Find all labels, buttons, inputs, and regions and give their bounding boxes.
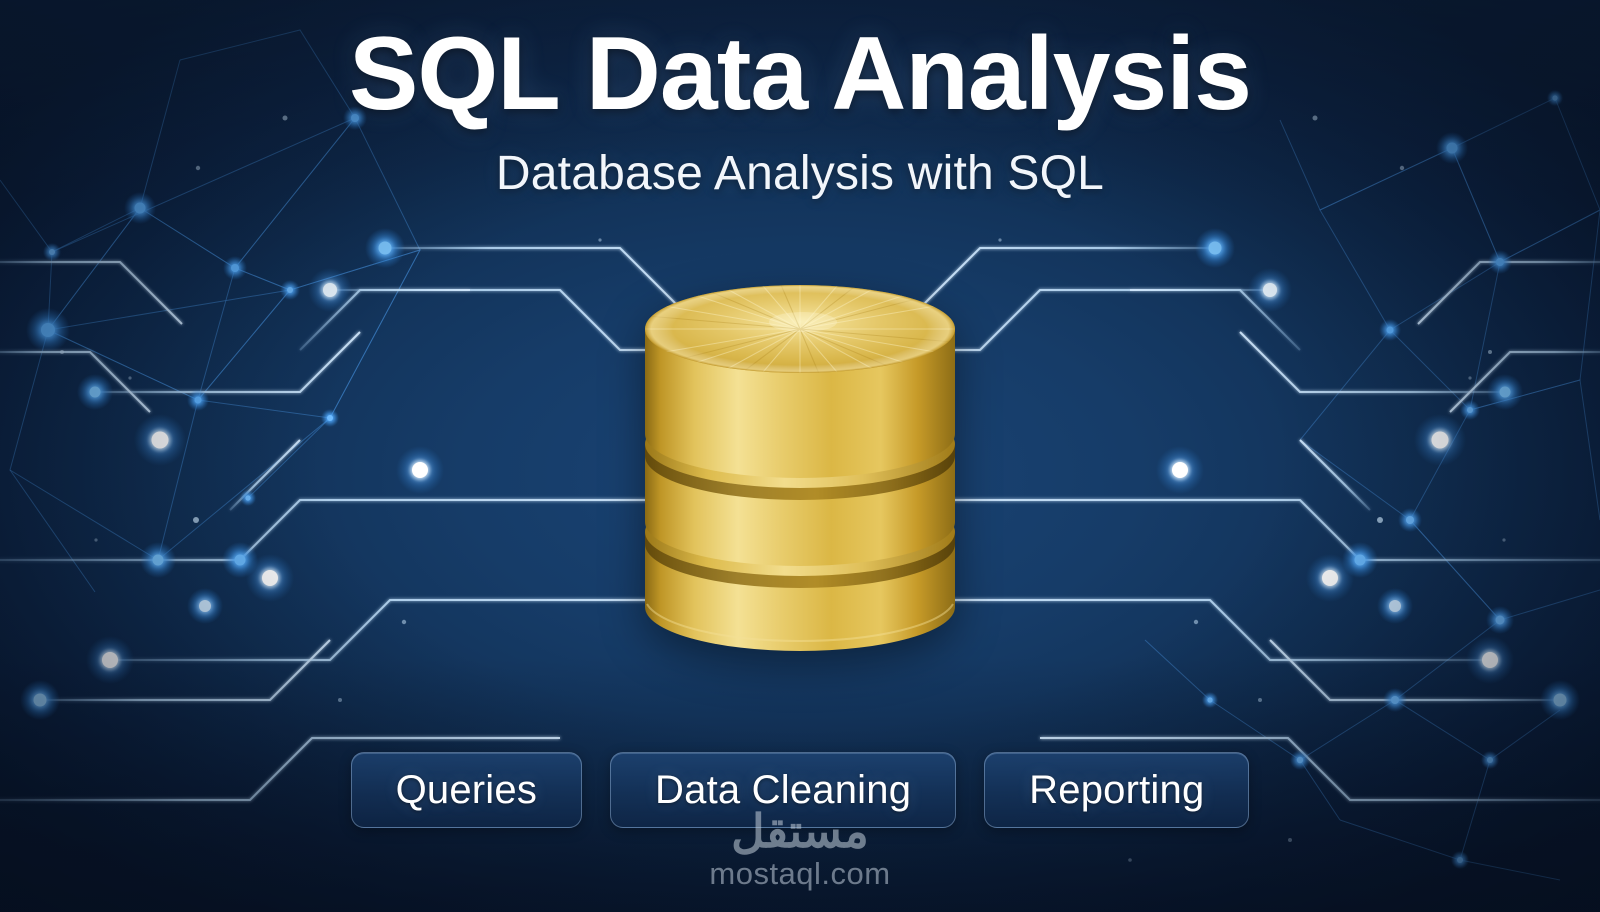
pill-data-cleaning[interactable]: Data Cleaning (610, 752, 956, 828)
page-subtitle: Database Analysis with SQL (0, 146, 1600, 201)
circuit-traces-right (900, 248, 1600, 800)
pill-queries[interactable]: Queries (351, 752, 582, 828)
tag-pill-row: Queries Data Cleaning Reporting (0, 752, 1600, 828)
database-cylinder-icon (635, 282, 965, 654)
circuit-traces-left (0, 248, 700, 800)
db-disc-top (645, 282, 955, 478)
header-block: SQL Data Analysis Database Analysis with… (0, 0, 1600, 201)
sql-data-analysis-banner: SQL Data Analysis Database Analysis with… (0, 0, 1600, 912)
page-title: SQL Data Analysis (0, 16, 1600, 132)
database-cylinder-svg (635, 282, 965, 654)
pill-reporting[interactable]: Reporting (984, 752, 1249, 828)
